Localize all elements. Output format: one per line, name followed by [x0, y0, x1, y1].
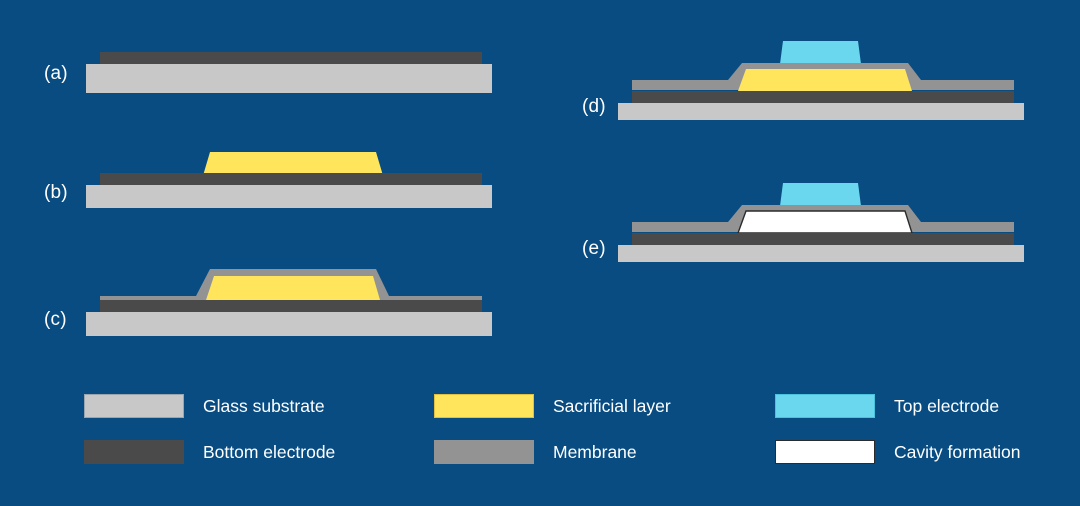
legend-label: Membrane	[553, 442, 637, 463]
panel-label-b: (b)	[44, 182, 68, 204]
top-electrode-shape	[780, 41, 861, 64]
legend-label: Sacrificial layer	[553, 396, 671, 417]
panel-label-e: (e)	[582, 238, 606, 260]
legend-item-glass-substrate: Glass substrate	[84, 394, 325, 418]
panel-label-a: (a)	[44, 63, 68, 85]
glass-substrate-layer	[86, 312, 492, 336]
legend-label: Cavity formation	[894, 442, 1020, 463]
legend: Glass substrate Bottom electrode Sacrifi…	[0, 380, 1080, 480]
legend-label: Bottom electrode	[203, 442, 335, 463]
top-electrode-swatch	[775, 394, 875, 418]
glass-substrate-layer	[618, 103, 1024, 120]
legend-item-bottom-electrode: Bottom electrode	[84, 440, 335, 464]
glass-substrate-swatch	[84, 394, 184, 418]
glass-substrate-layer	[86, 185, 492, 208]
glass-substrate-layer	[618, 245, 1024, 262]
panel-label-d: (d)	[582, 96, 606, 118]
legend-label: Glass substrate	[203, 396, 325, 417]
figure-canvas: (a) (b) (c) (d) (e)	[0, 0, 1080, 506]
panel-diagram-b	[86, 145, 496, 208]
cavity-shape	[738, 211, 912, 233]
legend-item-cavity-formation: Cavity formation	[775, 440, 1020, 464]
panel-diagram-c	[86, 266, 496, 336]
legend-item-sacrificial-layer: Sacrificial layer	[434, 394, 671, 418]
panel-diagram-e	[618, 180, 1028, 262]
bottom-electrode-swatch	[84, 440, 184, 464]
legend-item-membrane: Membrane	[434, 440, 637, 464]
bottom-electrode-layer	[100, 52, 482, 64]
cavity-formation-swatch	[775, 440, 875, 464]
top-electrode-shape	[780, 183, 861, 206]
sacrificial-layer-shape	[738, 69, 912, 91]
bottom-electrode-layer	[632, 233, 1014, 245]
panel-diagram-d	[618, 38, 1028, 120]
sacrificial-layer-swatch	[434, 394, 534, 418]
panel-label-c: (c)	[44, 309, 67, 331]
bottom-electrode-layer	[100, 173, 482, 185]
membrane-swatch	[434, 440, 534, 464]
legend-label: Top electrode	[894, 396, 999, 417]
legend-item-top-electrode: Top electrode	[775, 394, 999, 418]
bottom-electrode-layer	[100, 300, 482, 312]
bottom-electrode-layer	[632, 91, 1014, 103]
sacrificial-layer-shape	[206, 276, 380, 300]
panel-diagram-a	[86, 48, 496, 93]
glass-substrate-layer	[86, 64, 492, 93]
